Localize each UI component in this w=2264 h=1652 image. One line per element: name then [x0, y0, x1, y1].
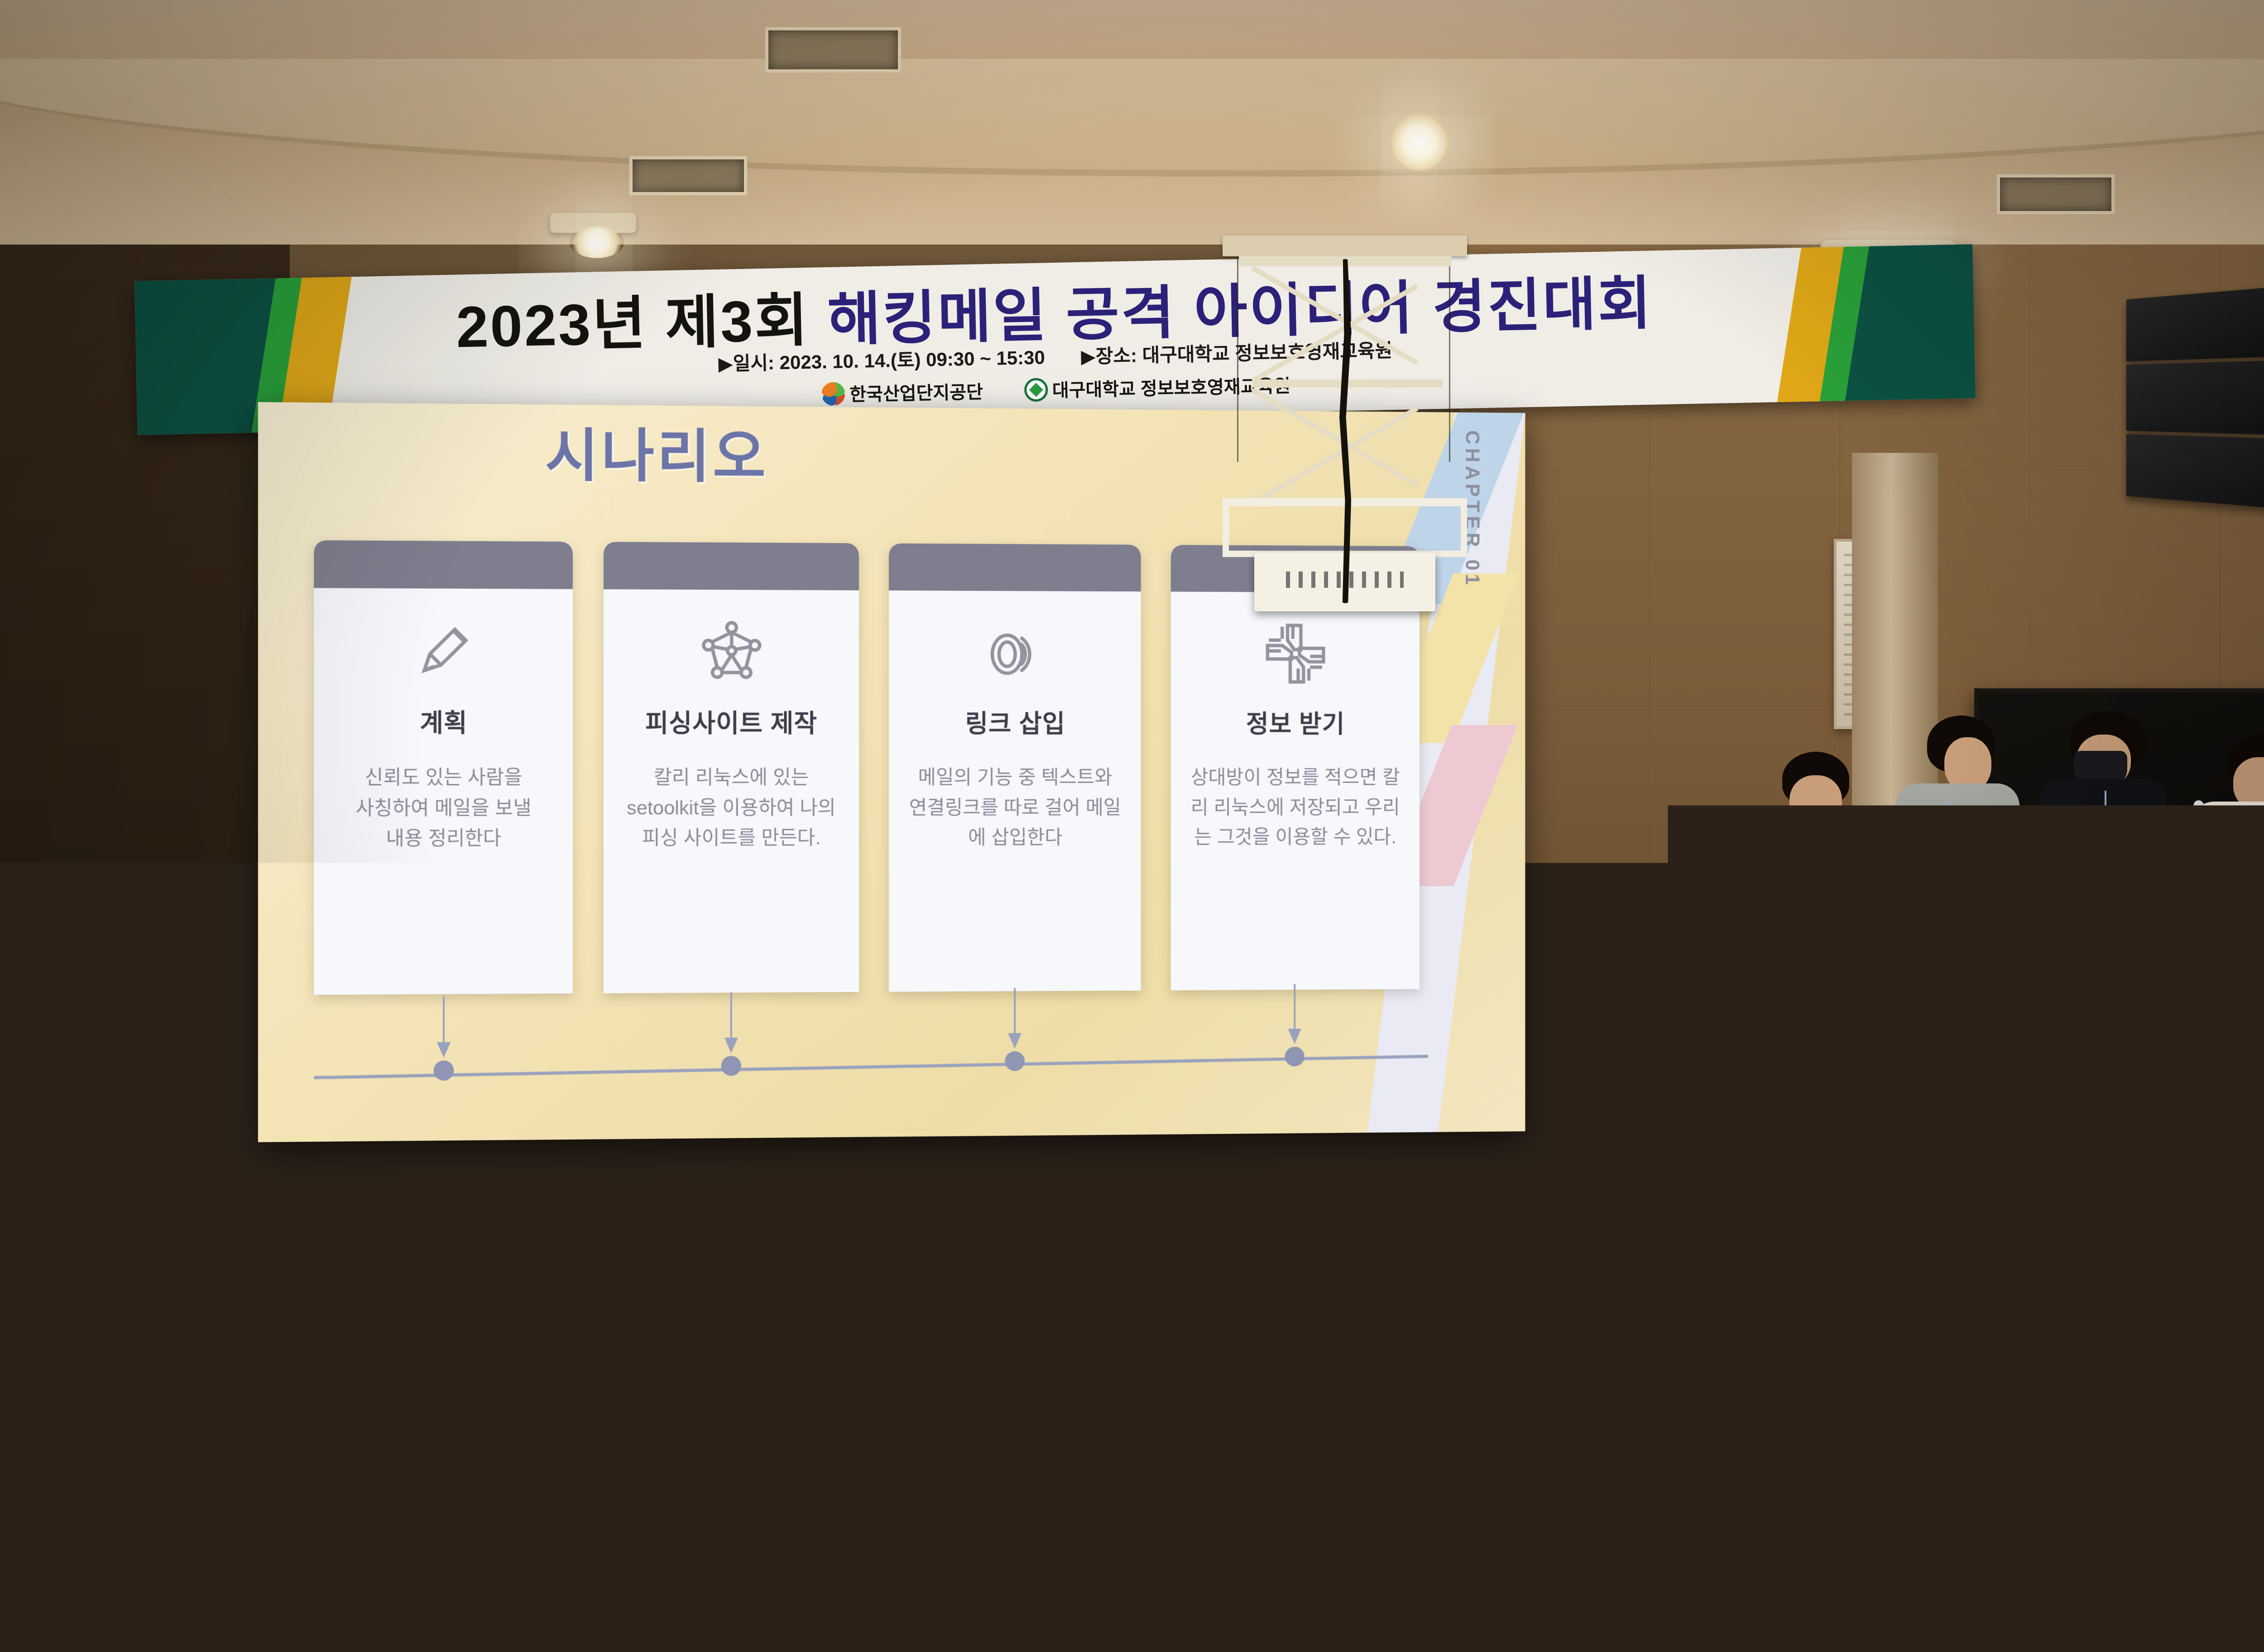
- audience-head: [453, 1168, 539, 1263]
- lanyard: [1950, 802, 1952, 869]
- phone-screen: [1899, 1368, 2006, 1440]
- card-title: 정보 받기: [1246, 703, 1345, 740]
- smartphone-recording[interactable]: [1895, 1365, 2010, 1443]
- presenter: [1884, 716, 2033, 1218]
- timeline-dot: [434, 1061, 454, 1081]
- audience-head: [2029, 1159, 2115, 1252]
- slide-timeline: [314, 991, 1428, 1098]
- timeline-dot: [1285, 1047, 1305, 1066]
- presenter: [2029, 711, 2182, 1218]
- line-array-speaker: [2126, 278, 2264, 519]
- name-badge: [2238, 902, 2264, 946]
- banner-date-line: ▶일시: 2023. 10. 14.(토) 09:30 ~ 15:30: [718, 346, 1045, 374]
- timeline-arrow-icon: [1294, 984, 1295, 1042]
- presenter-legs: [2064, 983, 2145, 1073]
- audience-head: [317, 1177, 401, 1268]
- card-header-bar: [889, 543, 1141, 591]
- audience-head: [1630, 1322, 1733, 1436]
- timeline-dot: [721, 1056, 741, 1076]
- organization-kicox-label: 한국산업단지공단: [849, 382, 983, 405]
- presenter-face: [1789, 775, 1842, 829]
- timeline-dot: [1005, 1051, 1025, 1071]
- audience-head: [18, 1318, 122, 1431]
- auditorium-seat[interactable]: [1798, 1540, 1992, 1652]
- timeline-arrow-icon: [443, 996, 445, 1056]
- ceiling-vent: [1997, 174, 2115, 214]
- organization-kicox: 한국산업단지공단: [821, 377, 983, 407]
- lanyard: [2253, 818, 2255, 899]
- speaker-module: [2126, 357, 2264, 437]
- card-body: 상대방이 정보를 적으면 칼리 리눅스에 저장되고 우리는 그것을 이용할 수 …: [1171, 763, 1420, 853]
- audience-head: [503, 1313, 607, 1429]
- audience-head: [1748, 1191, 1829, 1282]
- audience-head: [1159, 1177, 1243, 1270]
- audience-head: [181, 1313, 285, 1429]
- phone-screen: [2148, 1186, 2249, 1248]
- audience-head: [666, 1318, 767, 1431]
- audience-head: [1304, 1173, 1390, 1268]
- audience-head: [1589, 1454, 1770, 1652]
- ceiling-vent: [765, 27, 901, 72]
- slide-card: 피싱사이트 제작 칼리 리눅스에 있는 setoolkit을 이용하여 나의 피…: [604, 542, 859, 993]
- audience-head: [878, 1177, 962, 1270]
- audience-head: [593, 1540, 747, 1652]
- audience-head: [987, 1316, 1090, 1430]
- slide-card: 링크 삽입 메일의 기능 중 텍스트와 연결링크를 따로 걸어 메일에 삽입한다: [889, 543, 1141, 992]
- audience-head: [1019, 1175, 1105, 1269]
- auditorium-scene: 2023년 제3회 해킹메일 공격 아이디어 경진대회 ▶일시: 2023. 1…: [0, 0, 2264, 1652]
- card-title: 계획: [420, 702, 467, 739]
- card-header-bar: [314, 540, 573, 589]
- audience-head: [1146, 1313, 1250, 1429]
- name-badge: [2082, 892, 2115, 936]
- kicox-logo-icon: [821, 382, 845, 406]
- timeline-arrow-icon: [730, 992, 732, 1052]
- link-rings-icon: [982, 619, 1049, 687]
- audience-head: [1585, 1182, 1669, 1275]
- auditorium-seat[interactable]: [371, 1540, 566, 1652]
- presenter-legs: [1774, 1005, 1857, 1218]
- presenter: [1739, 752, 1893, 1218]
- presenter-legs: [1916, 978, 2000, 1218]
- audience-head: [598, 1177, 681, 1270]
- lift-wire: [1449, 254, 1450, 462]
- auditorium-seat[interactable]: [2255, 1223, 2264, 1359]
- card-title: 피싱사이트 제작: [645, 702, 817, 739]
- slide-card: 계획 신뢰도 있는 사람을 사칭하여 메일을 보낼 내용 정리한다: [314, 540, 573, 995]
- audience-head: [104, 1472, 254, 1652]
- ceiling-plate: [1223, 235, 1467, 256]
- ceiling-vent: [629, 156, 747, 195]
- auditorium-seat[interactable]: [1186, 1540, 1381, 1652]
- audience-head: [168, 1177, 251, 1270]
- audience-head: [824, 1313, 928, 1429]
- presenter-torso: [1754, 822, 1877, 1012]
- name-badge: [1934, 868, 1968, 911]
- audience-head: [869, 1440, 1037, 1652]
- lift-wire: [1237, 254, 1238, 462]
- network-node-icon: [697, 618, 766, 686]
- audience-head: [344, 1318, 446, 1431]
- ceiling-spotlight: [1390, 113, 1449, 172]
- audience-head: [1467, 1313, 1571, 1429]
- ceiling-spotlight: [570, 226, 624, 258]
- audience-head: [1309, 1318, 1410, 1431]
- timeline-arrow-icon: [1014, 988, 1016, 1047]
- card-body: 신뢰도 있는 사람을 사칭하여 메일을 보낼 내용 정리한다: [336, 763, 551, 855]
- daegu-university-logo-icon: [1024, 378, 1048, 402]
- card-body: 메일의 기능 중 텍스트와 연결링크를 따로 걸어 메일에 삽입한다: [889, 763, 1141, 853]
- card-header-bar: [604, 542, 859, 590]
- timeline-axis: [314, 1055, 1428, 1079]
- audience-head: [1444, 1177, 1528, 1270]
- pencil-icon: [409, 617, 478, 686]
- audience-head: [32, 1186, 113, 1277]
- audience-head: [2101, 1313, 2210, 1433]
- teamwork-hands-icon: [1262, 620, 1329, 687]
- presenter-speaking: [2173, 734, 2264, 1223]
- ceiling-projector-lift: [1195, 235, 1494, 625]
- card-body: 칼리 리눅스에 있는 setoolkit을 이용하여 나의 피싱 사이트를 만든…: [604, 763, 859, 854]
- card-title: 링크 삽입: [965, 703, 1065, 739]
- smartphone-recording[interactable]: [2144, 1183, 2253, 1251]
- auditorium-seat[interactable]: [1390, 1540, 1585, 1652]
- slide-title: 시나리오: [545, 409, 768, 494]
- audience-head: [734, 1173, 820, 1268]
